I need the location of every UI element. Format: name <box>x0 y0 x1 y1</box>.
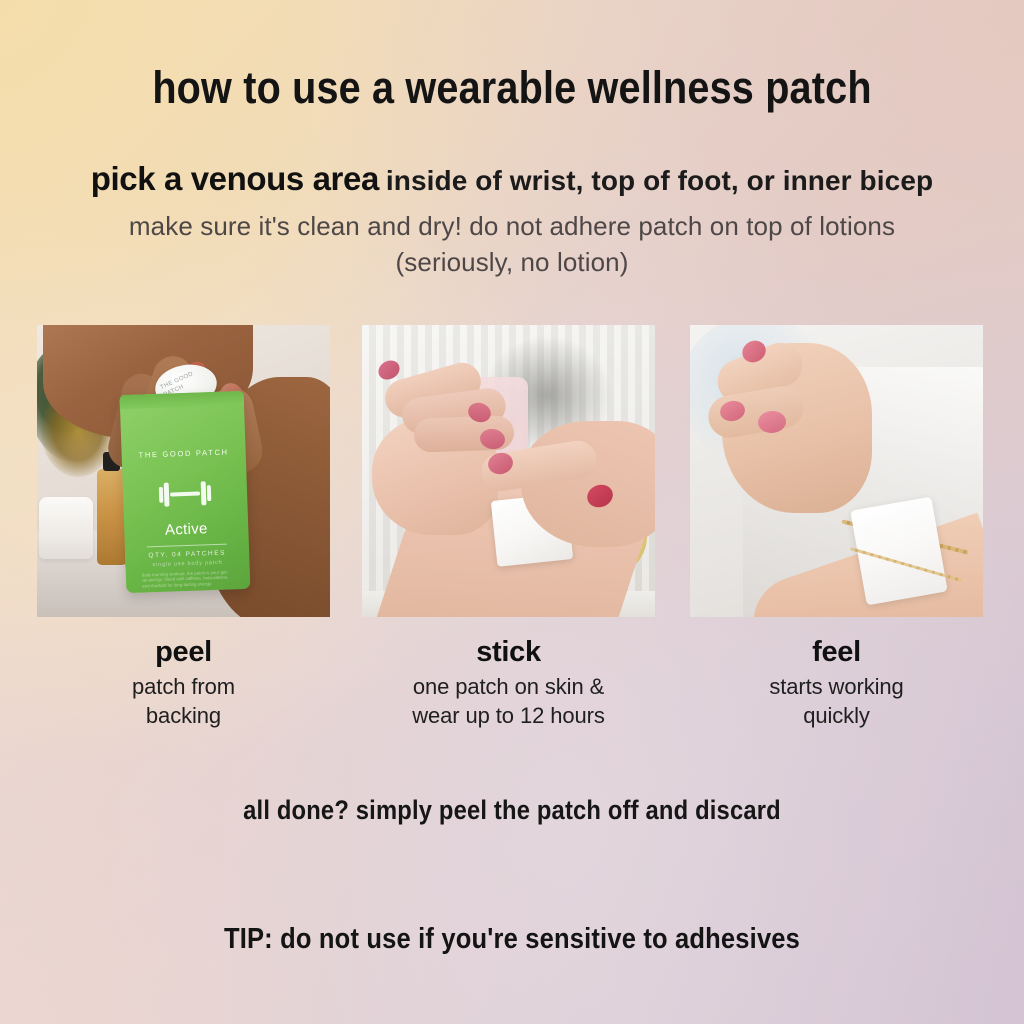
step-heading: peel <box>37 636 330 669</box>
cream-jar-icon <box>39 497 93 559</box>
step-caption-peel: peel patch from backing <box>37 636 330 730</box>
step-photo-row: THE GOOD PATCH THE GOOD PATCH Active <box>37 325 987 617</box>
step-subtext: starts working quickly <box>690 672 983 730</box>
pouch-brand-label: THE GOOD PATCH <box>122 447 246 460</box>
step-heading: stick <box>362 636 655 669</box>
cleanliness-note-line-1: make sure it's clean and dry! do not adh… <box>0 208 1024 244</box>
infographic-poster: how to use a wearable wellness patch pic… <box>0 0 1024 1024</box>
step-subtext-line-1: one patch on skin & <box>362 672 655 701</box>
step-subtext-line-2: wear up to 12 hours <box>362 701 655 730</box>
pouch-variant-label: Active <box>124 519 249 540</box>
tip-note: TIP: do not use if you're sensitive to a… <box>61 921 962 957</box>
cleanliness-note: make sure it's clean and dry! do not adh… <box>0 208 1024 280</box>
step-subtext: one patch on skin & wear up to 12 hours <box>362 672 655 730</box>
step-subtext-line-1: starts working <box>690 672 983 701</box>
step-caption-stick: stick one patch on skin & wear up to 12 … <box>362 636 655 730</box>
step-subtext: patch from backing <box>37 672 330 730</box>
pouch-fine-print: daily morning workout. the patch is your… <box>142 569 235 588</box>
step-photo-stick <box>362 325 655 617</box>
pouch-seal <box>120 391 244 409</box>
step-heading: feel <box>690 636 983 669</box>
venous-area-line: pick a venous areainside of wrist, top o… <box>0 160 1024 198</box>
step-caption-row: peel patch from backing stick one patch … <box>37 636 987 746</box>
venous-area-emphasis: pick a venous area <box>91 160 379 197</box>
pouch-qty-sub-label: single use body patch <box>125 559 249 569</box>
step-photo-feel <box>690 325 983 617</box>
step-subtext-line-1: patch from <box>37 672 330 701</box>
step-subtext-line-2: quickly <box>690 701 983 730</box>
cleanliness-note-line-2: (seriously, no lotion) <box>0 244 1024 280</box>
pouch-divider <box>147 544 227 548</box>
step-photo-peel: THE GOOD PATCH THE GOOD PATCH Active <box>37 325 330 617</box>
page-title: how to use a wearable wellness patch <box>61 62 962 114</box>
product-pouch: THE GOOD PATCH Active QTY. 04 PATCHES si… <box>120 391 251 593</box>
dumbbell-icon <box>155 476 214 512</box>
step-subtext-line-2: backing <box>37 701 330 730</box>
step-caption-feel: feel starts working quickly <box>690 636 983 730</box>
all-done-note: all done? simply peel the patch off and … <box>61 793 962 827</box>
venous-area-detail: inside of wrist, top of foot, or inner b… <box>386 165 933 196</box>
